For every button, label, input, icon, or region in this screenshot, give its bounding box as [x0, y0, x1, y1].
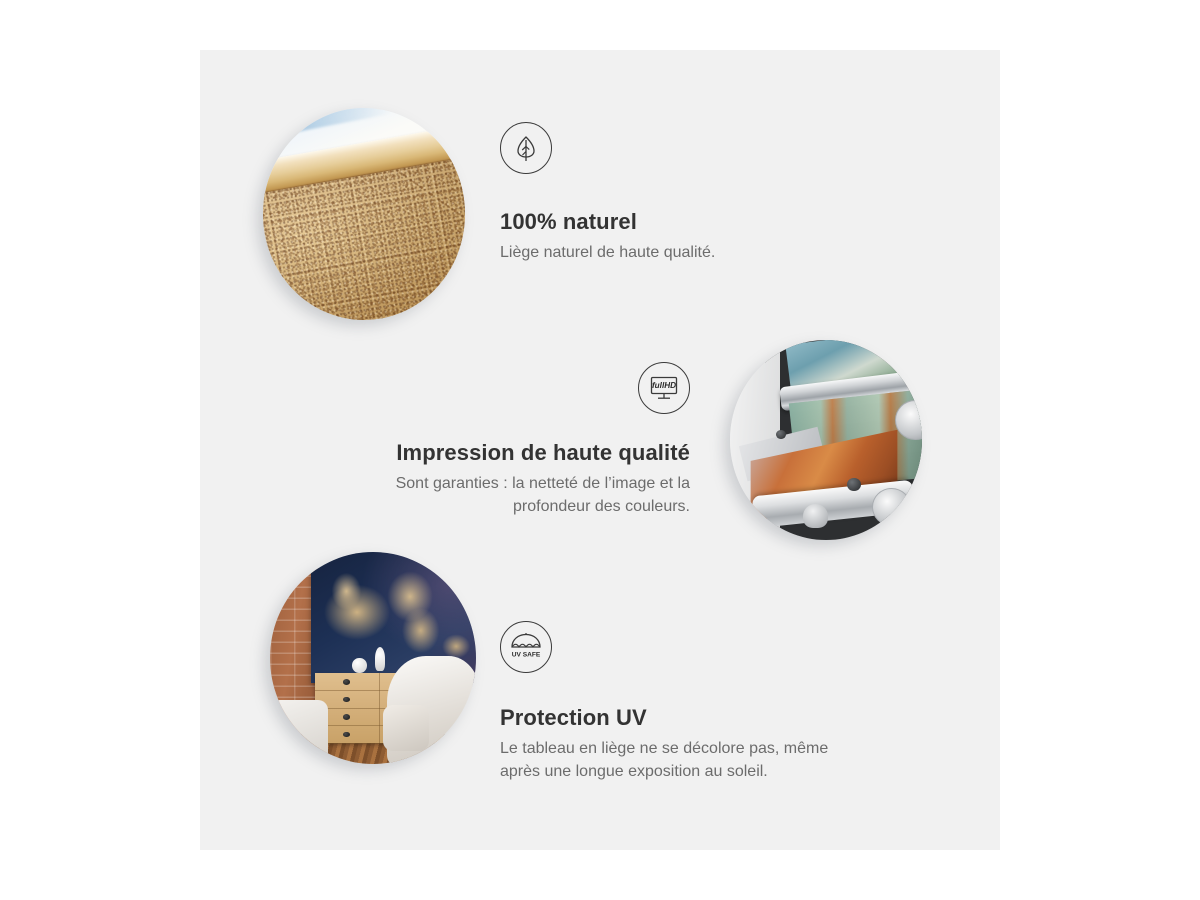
feature-natural-title: 100% naturel: [500, 209, 920, 235]
cork-macro-photo: [263, 108, 465, 320]
feature-print-description-line2: profondeur des couleurs.: [513, 498, 690, 515]
uv-safe-icon-label: UV SAFE: [512, 652, 541, 659]
photo-dresser-divider: [379, 673, 380, 743]
feature-print-quality: fullHD Impression de haute qualité Sont …: [290, 362, 690, 518]
interior-world-map-photo: [270, 552, 476, 764]
fullhd-icon-label: fullHD: [652, 381, 676, 390]
photo-armchair-right-arm: [383, 705, 428, 752]
feature-uv-title: Protection UV: [500, 705, 920, 731]
feature-uv-description: Le tableau en liège ne se décolore pas, …: [500, 738, 920, 783]
photo-machine-knob-1: [847, 478, 860, 491]
screenshot-root: 100% naturel Liège naturel de haute qual…: [0, 0, 1200, 900]
interior-world-map-photo-content: [270, 552, 476, 764]
feature-uv-description-line1: Le tableau en liège ne se décolore pas, …: [500, 740, 828, 757]
printing-machine-photo: [730, 340, 922, 540]
feature-print-description-line1: Sont garanties : la netteté de l’image e…: [396, 475, 690, 492]
photo-machine-foot: [803, 504, 828, 528]
photo-decor-figurine: [375, 647, 385, 670]
cork-macro-photo-content: [263, 108, 465, 320]
feature-natural: 100% naturel Liège naturel de haute qual…: [500, 122, 920, 265]
feature-natural-description: Liège naturel de haute qualité.: [500, 242, 920, 265]
printing-machine-photo-content: [730, 340, 922, 540]
photo-armchair-left: [270, 700, 328, 764]
photo-machine-knob-2: [776, 430, 786, 439]
fullhd-monitor-icon: fullHD: [638, 362, 690, 414]
feature-uv-protection: UV SAFE Protection UV Le tableau en lièg…: [500, 621, 920, 783]
feature-print-title: Impression de haute qualité: [290, 440, 690, 466]
feature-print-description: Sont garanties : la netteté de l’image e…: [290, 473, 690, 518]
feature-uv-description-line2: après une longue exposition au soleil.: [500, 763, 768, 780]
umbrella-uv-safe-icon: UV SAFE: [500, 621, 552, 673]
feature-print-icon-wrap: fullHD: [290, 362, 690, 414]
leaf-icon: [500, 122, 552, 174]
photo-roller-disc-lower: [872, 488, 910, 526]
photo-decor-globe: [352, 658, 366, 673]
